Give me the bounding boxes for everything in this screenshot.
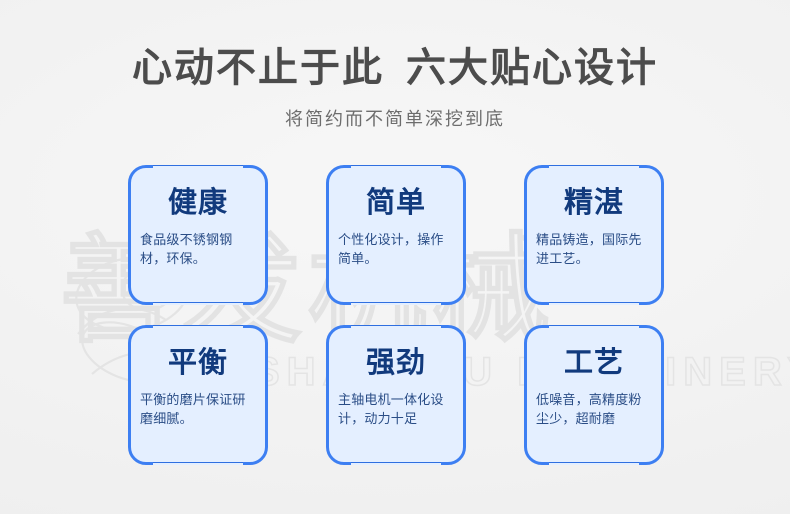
feature-card-powerful: 强劲 主轴电机一体化设计，动力十足 — [326, 325, 466, 465]
feature-card-title: 平衡 — [168, 328, 228, 380]
feature-card-exquisite: 精湛 精品铸造，国际先进工艺。 — [524, 165, 664, 305]
page-header: 心动不止于此六大贴心设计 将简约而不简单深挖到底 — [0, 0, 790, 131]
feature-card-craft: 工艺 低噪音，高精度粉尘少，超耐磨 — [524, 325, 664, 465]
feature-card-description: 低噪音，高精度粉尘少，超耐磨 — [536, 380, 652, 429]
feature-card-title: 简单 — [366, 168, 426, 220]
feature-card-description: 平衡的磨片保证研磨细腻。 — [140, 380, 256, 429]
feature-card-health: 健康 食品级不锈钢钢材，环保。 — [128, 165, 268, 305]
feature-card-title: 健康 — [168, 168, 228, 220]
feature-card-simple: 简单 个性化设计，操作简单。 — [326, 165, 466, 305]
feature-card-grid: 健康 食品级不锈钢钢材，环保。 简单 个性化设计，操作简单。 精湛 精品铸造，国… — [128, 165, 668, 465]
feature-card-title: 精湛 — [564, 168, 624, 220]
feature-card-description: 食品级不锈钢钢材，环保。 — [140, 220, 256, 269]
feature-card-title: 工艺 — [564, 328, 624, 380]
feature-card-description: 主轴电机一体化设计，动力十足 — [338, 380, 454, 429]
feature-card-balance: 平衡 平衡的磨片保证研磨细腻。 — [128, 325, 268, 465]
feature-card-description: 个性化设计，操作简单。 — [338, 220, 454, 269]
page-subtitle: 将简约而不简单深挖到底 — [0, 93, 790, 131]
promo-feature-page: 善发机械 SHANTOU MACHINERY 心动不止于此六大贴心设计 将简约而… — [0, 0, 790, 514]
feature-card-title: 强劲 — [366, 328, 426, 380]
feature-card-description: 精品铸造，国际先进工艺。 — [536, 220, 652, 269]
page-title: 心动不止于此六大贴心设计 — [0, 0, 790, 93]
page-title-part-right: 六大贴心设计 — [406, 46, 658, 90]
page-title-part-left: 心动不止于此 — [132, 46, 384, 90]
